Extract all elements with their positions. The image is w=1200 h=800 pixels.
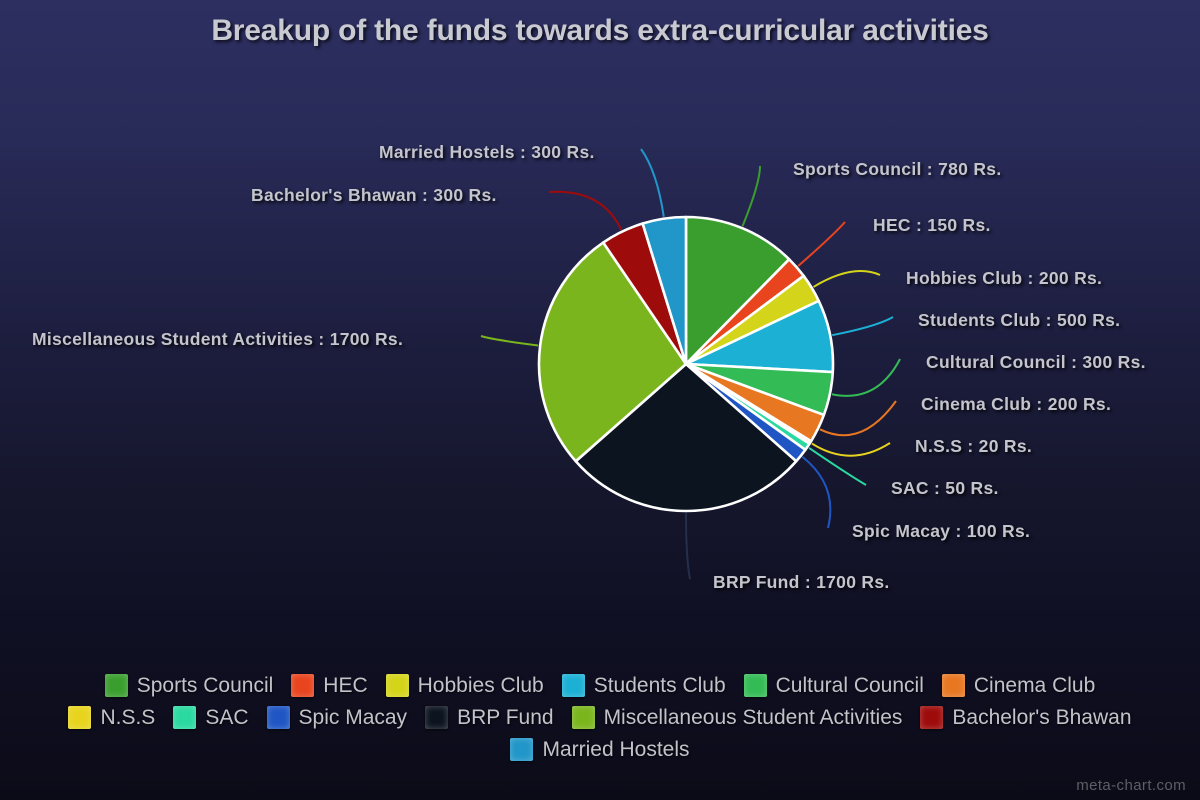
pie-callout-label: BRP Fund : 1700 Rs. (713, 572, 890, 593)
pie-callout-label: Sports Council : 780 Rs. (793, 159, 1002, 180)
legend-item[interactable]: Sports Council (105, 672, 274, 699)
legend-label: Miscellaneous Student Activities (604, 706, 903, 730)
legend-item[interactable]: Bachelor's Bhawan (920, 704, 1131, 731)
legend-swatch-icon (572, 706, 595, 729)
pie-callout-label: Miscellaneous Student Activities : 1700 … (32, 329, 403, 350)
legend-label: Married Hostels (542, 738, 689, 762)
legend-label: Cinema Club (974, 674, 1095, 698)
watermark: meta-chart.com (1076, 777, 1186, 794)
leader-line (802, 457, 830, 528)
legend-item[interactable]: SAC (173, 704, 248, 731)
leader-line (812, 443, 890, 456)
legend-item[interactable]: Cultural Council (744, 672, 924, 699)
leader-line (549, 192, 621, 230)
legend-label: BRP Fund (457, 706, 554, 730)
legend-label: Spic Macay (299, 706, 408, 730)
pie-callout-label: Cinema Club : 200 Rs. (921, 394, 1111, 415)
legend-label: N.S.S (100, 706, 155, 730)
legend-swatch-icon (562, 674, 585, 697)
legend-swatch-icon (942, 674, 965, 697)
legend-item[interactable]: Miscellaneous Student Activities (572, 704, 903, 731)
leader-line (481, 336, 538, 345)
pie-callout-label: Spic Macay : 100 Rs. (852, 521, 1030, 542)
pie-callout-label: Students Club : 500 Rs. (918, 310, 1120, 331)
legend-swatch-icon (386, 674, 409, 697)
legend-swatch-icon (267, 706, 290, 729)
legend-swatch-icon (291, 674, 314, 697)
legend-swatch-icon (68, 706, 91, 729)
legend-swatch-icon (920, 706, 943, 729)
legend-item[interactable]: Married Hostels (510, 736, 689, 763)
legend-item[interactable]: Spic Macay (267, 704, 408, 731)
pie-chart: Sports Council : 780 Rs.HEC : 150 Rs.Hob… (0, 0, 1200, 660)
leader-line (820, 401, 896, 435)
legend-label: Bachelor's Bhawan (952, 706, 1131, 730)
pie-slices (539, 217, 833, 511)
leader-line (814, 271, 880, 287)
legend-item[interactable]: Students Club (562, 672, 726, 699)
leader-line (798, 222, 845, 266)
leader-line (686, 513, 690, 579)
pie-callout-label: Cultural Council : 300 Rs. (926, 352, 1146, 373)
leader-line (743, 166, 760, 226)
legend-swatch-icon (425, 706, 448, 729)
pie-callout-label: Hobbies Club : 200 Rs. (906, 268, 1102, 289)
pie-callout-label: N.S.S : 20 Rs. (915, 436, 1032, 457)
pie-callout-label: Married Hostels : 300 Rs. (379, 142, 595, 163)
legend-item[interactable]: Cinema Club (942, 672, 1095, 699)
legend-label: HEC (323, 674, 367, 698)
legend-label: Cultural Council (776, 674, 924, 698)
leader-line (641, 149, 664, 217)
legend-item[interactable]: Hobbies Club (386, 672, 544, 699)
legend-label: Hobbies Club (418, 674, 544, 698)
legend-swatch-icon (105, 674, 128, 697)
legend-item[interactable]: N.S.S (68, 704, 155, 731)
pie-callout-label: Bachelor's Bhawan : 300 Rs. (251, 185, 497, 206)
legend-swatch-icon (510, 738, 533, 761)
legend-swatch-icon (173, 706, 196, 729)
leader-line (832, 317, 893, 335)
legend-label: SAC (205, 706, 248, 730)
legend-swatch-icon (744, 674, 767, 697)
legend-label: Sports Council (137, 674, 274, 698)
legend-label: Students Club (594, 674, 726, 698)
leader-line (832, 359, 900, 396)
legend: Sports CouncilHECHobbies ClubStudents Cl… (0, 672, 1200, 768)
pie-callout-label: SAC : 50 Rs. (891, 478, 999, 499)
legend-item[interactable]: HEC (291, 672, 367, 699)
pie-callout-label: HEC : 150 Rs. (873, 215, 991, 236)
legend-item[interactable]: BRP Fund (425, 704, 554, 731)
